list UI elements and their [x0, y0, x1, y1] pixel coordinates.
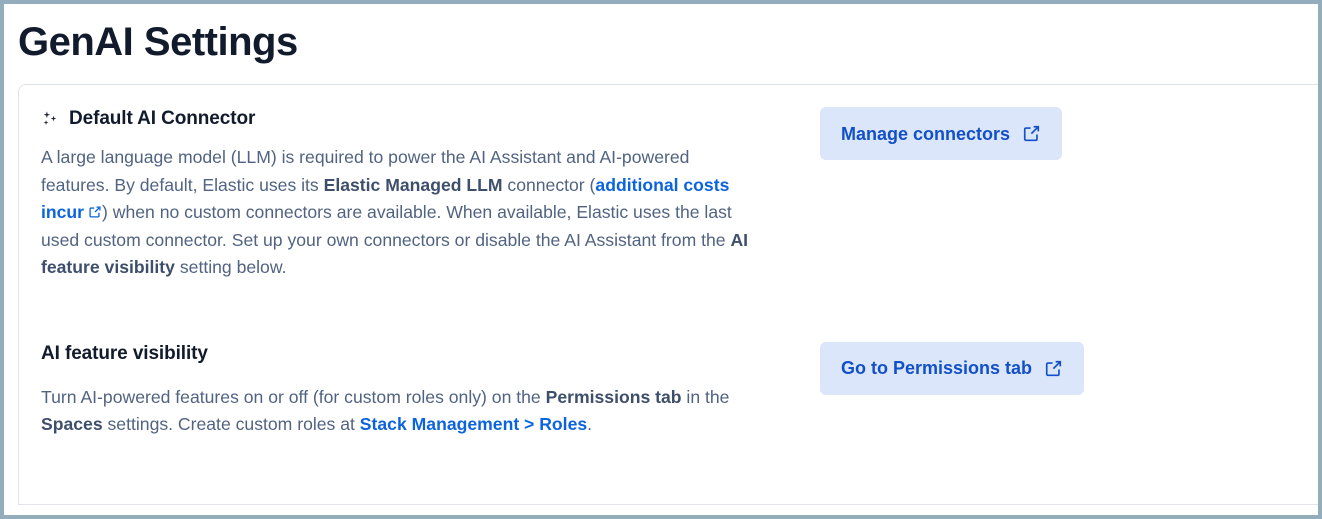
section-body-text: A large language model (LLM) is required… — [41, 144, 753, 282]
manage-connectors-button-label: Manage connectors — [841, 125, 1010, 143]
body-text-part3: settings. Create custom roles at — [103, 414, 360, 434]
section-default-ai-connector-content: Default AI Connector A large language mo… — [41, 107, 781, 282]
external-link-icon — [1044, 359, 1063, 378]
section-ai-feature-visibility-action: Go to Permissions tab — [781, 342, 1298, 395]
body-text-part1: Turn AI-powered features on or off (for … — [41, 387, 546, 407]
body-text-part4: . — [587, 414, 592, 434]
body-text-part2: connector ( — [503, 175, 596, 195]
section-heading: Default AI Connector — [69, 107, 255, 131]
page-header: GenAI Settings — [4, 4, 1318, 80]
body-text-part4: setting below. — [175, 257, 287, 277]
go-to-permissions-tab-button-label: Go to Permissions tab — [841, 359, 1032, 377]
section-default-ai-connector: Default AI Connector A large language mo… — [41, 107, 1298, 282]
sparkles-icon — [41, 110, 60, 129]
external-link-icon — [88, 200, 102, 214]
body-text-bold-elastic-managed-llm: Elastic Managed LLM — [324, 175, 503, 195]
body-text-bold-permissions-tab: Permissions tab — [546, 387, 682, 407]
section-ai-feature-visibility: AI feature visibility Turn AI-powered fe… — [41, 342, 1298, 439]
manage-connectors-button[interactable]: Manage connectors — [820, 107, 1062, 160]
section-heading-row: Default AI Connector — [41, 107, 781, 131]
settings-panel: Default AI Connector A large language mo… — [18, 84, 1320, 505]
section-default-ai-connector-action: Manage connectors — [781, 107, 1298, 160]
external-link-icon — [1022, 124, 1041, 143]
section-body-text: Turn AI-powered features on or off (for … — [41, 384, 753, 439]
body-text-bold-spaces: Spaces — [41, 414, 103, 434]
go-to-permissions-tab-button[interactable]: Go to Permissions tab — [820, 342, 1084, 395]
body-text-part3: ) when no custom connectors are availabl… — [41, 202, 732, 250]
body-text-part2: in the — [682, 387, 730, 407]
section-heading: AI feature visibility — [41, 342, 781, 366]
section-ai-feature-visibility-content: AI feature visibility Turn AI-powered fe… — [41, 342, 781, 439]
genai-settings-page: GenAI Settings Default AI Connector A la… — [0, 0, 1322, 519]
section-spacer — [41, 282, 1298, 342]
page-title: GenAI Settings — [18, 18, 1318, 66]
stack-management-roles-link[interactable]: Stack Management > Roles — [360, 414, 587, 434]
